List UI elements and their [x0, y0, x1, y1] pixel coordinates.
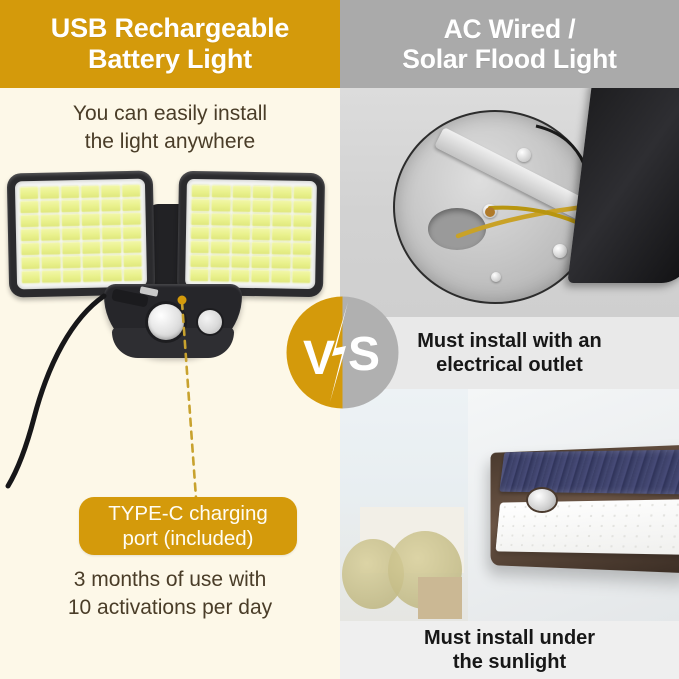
led-chip — [102, 227, 121, 239]
right-panel-header: AC Wired / Solar Flood Light — [340, 0, 679, 88]
led-chip — [191, 199, 210, 211]
comparison-infographic: USB Rechargeable Battery Light You can e… — [0, 0, 679, 679]
led-dots — [495, 499, 679, 555]
led-chip — [41, 200, 60, 212]
left-header-title: USB Rechargeable Battery Light — [51, 13, 289, 75]
led-chip — [231, 242, 250, 254]
led-chip — [21, 243, 40, 255]
led-chip — [293, 215, 312, 227]
led-chip — [62, 256, 81, 268]
led-chip — [81, 200, 100, 212]
led-grid-right — [188, 183, 314, 285]
led-chip — [211, 255, 230, 267]
led-chip — [62, 270, 81, 282]
led-chip — [41, 214, 60, 226]
led-chip — [21, 229, 40, 241]
led-chip — [82, 214, 101, 226]
led-chip — [271, 270, 290, 282]
led-chip — [22, 271, 41, 283]
led-chip — [191, 227, 210, 239]
led-chip — [61, 186, 80, 198]
led-chip — [103, 255, 122, 267]
led-chip — [61, 200, 80, 212]
battery-runtime-note: 3 months of use with 10 activations per … — [0, 566, 340, 622]
led-chip — [123, 241, 142, 253]
led-chip — [101, 185, 120, 197]
led-chip — [40, 186, 59, 198]
solar-flood-light-on-wall-photo — [340, 389, 679, 621]
led-chip — [252, 242, 271, 254]
led-chip — [41, 228, 60, 240]
led-chip — [251, 270, 270, 282]
solar-motion-sensor — [528, 489, 556, 511]
led-chip — [122, 213, 141, 225]
led-chip — [211, 213, 230, 225]
led-chip — [272, 214, 291, 226]
led-chip — [273, 200, 292, 212]
planter — [418, 577, 462, 619]
vs-letter-v: V — [303, 332, 335, 385]
right-header-title: AC Wired / Solar Flood Light — [402, 14, 616, 74]
led-chip — [62, 228, 81, 240]
led-chip — [83, 270, 102, 282]
led-chip — [61, 214, 80, 226]
led-chip — [232, 200, 251, 212]
led-chip — [292, 257, 311, 269]
led-grid-left — [18, 183, 144, 286]
led-chip — [190, 269, 209, 281]
led-chip — [211, 241, 230, 253]
left-lead-text: You can easily install the light anywher… — [0, 100, 340, 155]
led-chip — [232, 186, 251, 198]
led-chip — [20, 201, 39, 213]
led-reflector-left — [15, 179, 147, 290]
led-chip — [42, 270, 61, 282]
led-chip — [212, 185, 231, 197]
led-chip — [293, 229, 312, 241]
led-chip — [102, 213, 121, 225]
motion-sensor-dome — [148, 304, 184, 340]
led-chip — [212, 199, 231, 211]
solar-panel — [499, 449, 679, 494]
led-chip — [210, 269, 229, 281]
led-chip — [123, 227, 142, 239]
led-chip — [102, 199, 121, 211]
led-chip — [20, 187, 39, 199]
led-chip — [231, 256, 250, 268]
led-chip — [103, 269, 122, 281]
led-reflector-right — [185, 179, 317, 289]
led-chip — [21, 257, 40, 269]
led-chip — [251, 256, 270, 268]
led-chip — [231, 270, 250, 282]
caption-top-text: Must install with an electrical outlet — [417, 329, 601, 378]
led-chip — [102, 241, 121, 253]
led-lens-cover — [495, 499, 679, 555]
vs-letter-s: S — [348, 328, 380, 381]
light-sensor — [198, 310, 222, 334]
outdoor-background — [340, 389, 468, 621]
led-chip — [253, 186, 272, 198]
led-chip — [82, 228, 101, 240]
led-chip — [123, 269, 142, 281]
type-c-charging-badge: TYPE-C charging port (included) — [79, 497, 297, 555]
led-chip — [82, 256, 101, 268]
led-chip — [123, 255, 142, 267]
led-chip — [192, 185, 211, 197]
led-chip — [272, 242, 291, 254]
led-chip — [252, 200, 271, 212]
led-chip — [273, 186, 292, 198]
left-panel-header: USB Rechargeable Battery Light — [0, 0, 340, 88]
led-chip — [293, 201, 312, 213]
led-chip — [292, 243, 311, 255]
led-chip — [122, 199, 141, 211]
led-chip — [82, 242, 101, 254]
led-chip — [42, 256, 61, 268]
electrical-junction-box-photo — [340, 88, 679, 317]
led-chip — [42, 242, 61, 254]
led-chip — [191, 241, 210, 253]
led-chip — [252, 214, 271, 226]
led-chip — [191, 213, 210, 225]
led-head-left — [7, 170, 156, 297]
vs-badge: V S — [286, 296, 399, 409]
led-chip — [190, 255, 209, 267]
caption-bottom-text: Must install under the sunlight — [424, 626, 595, 675]
type-c-badge-label: TYPE-C charging port (included) — [108, 501, 268, 551]
caption-sunlight: Must install under the sunlight — [340, 621, 679, 679]
led-chip — [21, 215, 40, 227]
led-chip — [292, 271, 311, 283]
led-chip — [62, 242, 81, 254]
led-chip — [272, 228, 291, 240]
led-chip — [293, 187, 312, 199]
led-chip — [232, 228, 251, 240]
led-chip — [122, 185, 141, 197]
led-chip — [81, 186, 100, 198]
led-chip — [272, 256, 291, 268]
led-head-right — [177, 171, 325, 298]
led-chip — [232, 214, 251, 226]
led-flood-light-illustration — [8, 168, 333, 346]
led-chip — [252, 228, 271, 240]
led-chip — [211, 227, 230, 239]
